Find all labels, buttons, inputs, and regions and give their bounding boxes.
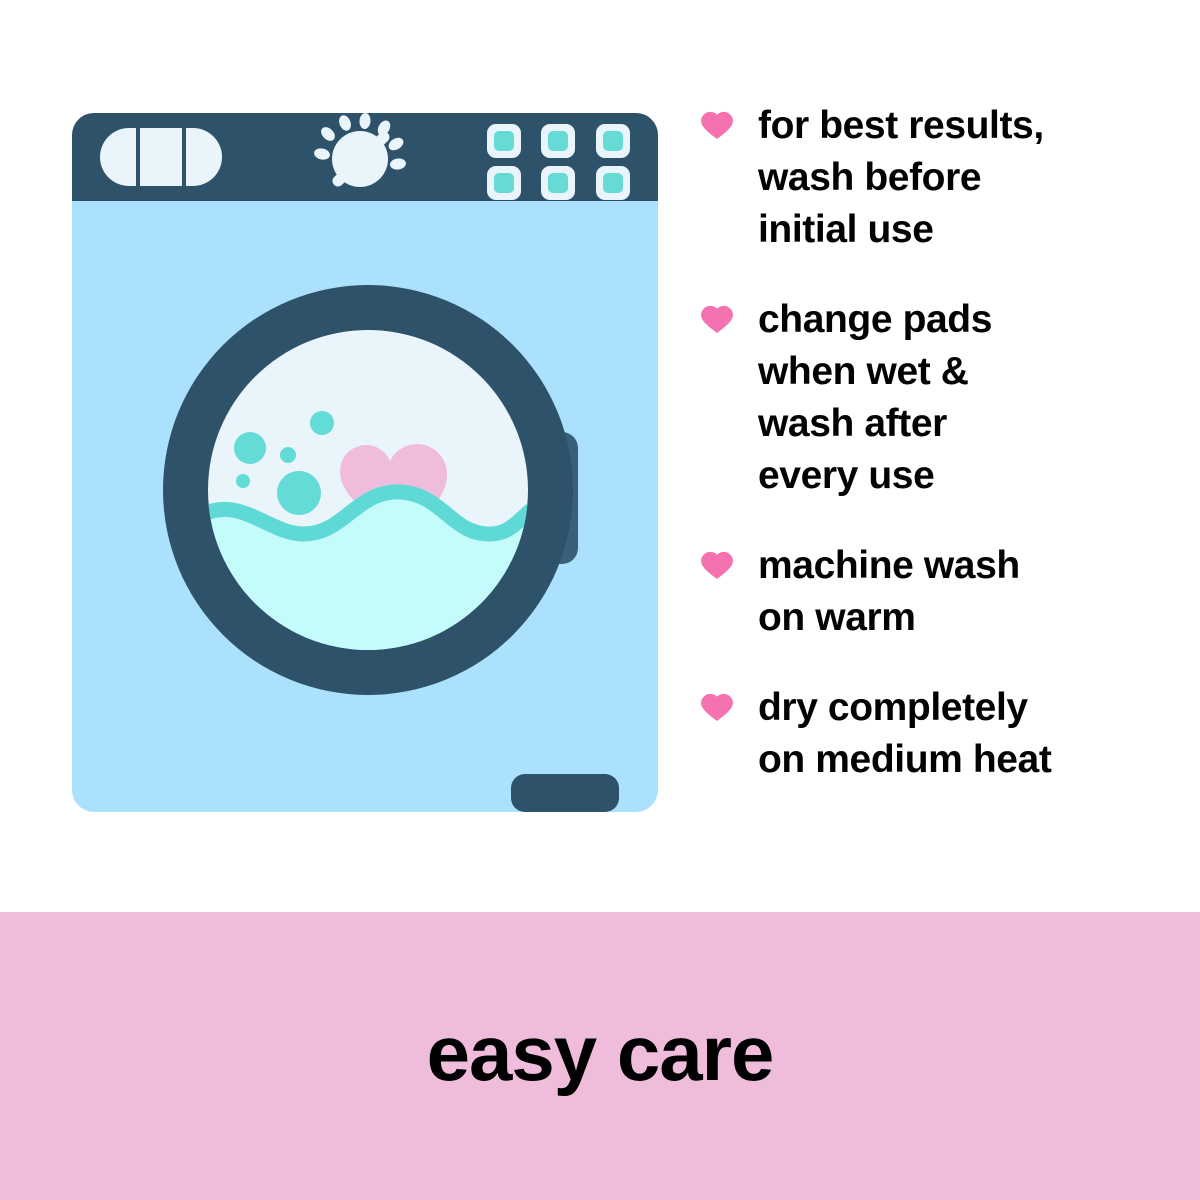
washing-machine-illustration xyxy=(0,0,700,912)
easy-care-banner: easy care xyxy=(0,912,1200,1200)
program-button xyxy=(487,124,521,158)
list-item: machine wash on warm xyxy=(700,540,1140,644)
program-button xyxy=(541,124,575,158)
list-item-label: machine wash on warm xyxy=(758,540,1020,644)
list-item: change pads when wet & wash after every … xyxy=(700,294,1140,502)
page-canvas: for best results, wash before initial us… xyxy=(0,0,1200,1200)
detergent-drawer xyxy=(100,128,222,186)
bottom-drawer xyxy=(511,774,619,812)
program-button xyxy=(596,124,630,158)
heart-icon xyxy=(700,110,734,140)
program-button xyxy=(596,166,630,200)
heart-icon xyxy=(700,550,734,580)
list-item: for best results, wash before initial us… xyxy=(700,100,1140,256)
heart-icon xyxy=(700,304,734,334)
list-item: dry completely on medium heat xyxy=(700,682,1140,786)
program-button xyxy=(487,166,521,200)
list-item-label: dry completely on medium heat xyxy=(758,682,1051,786)
banner-title: easy care xyxy=(427,1014,774,1092)
list-item-label: for best results, wash before initial us… xyxy=(758,100,1044,256)
heart-icon xyxy=(700,692,734,722)
program-button xyxy=(541,166,575,200)
list-item-label: change pads when wet & wash after every … xyxy=(758,294,992,502)
care-instructions-list: for best results, wash before initial us… xyxy=(700,100,1140,786)
